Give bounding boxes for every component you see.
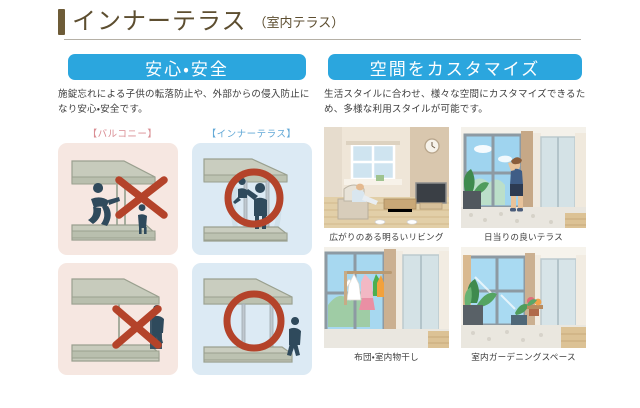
sunny-terrace-illustration-icon: [461, 127, 586, 228]
photo-living-room: [324, 127, 449, 228]
customize-band-label: 空間をカスタマイズ: [370, 55, 541, 80]
illustration-balcony-fall-risk: [58, 143, 178, 255]
safety-section: 安心・安全 施錠忘れによる子供の転落防止や、外部からの侵入防止になり安心・安全で…: [58, 54, 316, 375]
safety-band: 安心・安全: [68, 54, 306, 80]
safety-band-label: 安心・安全: [145, 55, 229, 80]
balcony-intruder-diagram-icon: [58, 263, 178, 375]
inner-terrace-safe-diagram-icon: [192, 143, 312, 255]
photo-indoor-laundry: [324, 247, 449, 348]
illustration-balcony-intruder-risk: [58, 263, 178, 375]
living-room-illustration-icon: [324, 127, 449, 228]
inner-terrace-intruder-blocked-diagram-icon: [192, 263, 312, 375]
page-header: インナーテラス （室内テラス）: [58, 6, 586, 48]
photo-cell-indoor-garden: 室内ガーデニングスペース: [461, 247, 586, 363]
customize-section: 空間をカスタマイズ 生活スタイルに合わせ、様々な空間にカスタマイズできるため、多…: [324, 54, 586, 363]
indoor-garden-illustration-icon: [461, 247, 586, 348]
illustration-inner-terrace-intruder-blocked: [192, 263, 312, 375]
indoor-laundry-illustration-icon: [324, 247, 449, 348]
safety-lead-text: 施錠忘れによる子供の転落防止や、外部からの侵入防止になり安心・安全です。: [58, 88, 316, 117]
illustration-inner-terrace-safe: [192, 143, 312, 255]
caption-sunny-terrace: 日当りの良いテラス: [461, 231, 586, 243]
title-divider: [64, 39, 581, 40]
compare-label-balcony: 【バルコニー】: [58, 126, 187, 140]
balcony-fall-diagram-icon: [58, 143, 178, 255]
page-title: インナーテラス （室内テラス）: [58, 6, 586, 38]
title-accent-bar: [58, 9, 65, 35]
customize-lead-text: 生活スタイルに合わせ、様々な空間にカスタマイズできるため、多様な利用スタイルが可…: [324, 88, 586, 117]
compare-label-row: 【バルコニー】 【インナーテラス】: [58, 126, 316, 140]
photo-indoor-garden: [461, 247, 586, 348]
infographic-page: インナーテラス （室内テラス） 安心・安全 施錠忘れによる子供の転落防止や、外部…: [0, 0, 640, 408]
photo-cell-indoor-laundry: 布団・室内物干し: [324, 247, 449, 363]
photo-cell-living-room: 広がりのある明るいリビング: [324, 127, 449, 243]
photo-sunny-terrace: [461, 127, 586, 228]
illustration-grid: [58, 143, 316, 375]
caption-indoor-laundry: 布団・室内物干し: [324, 351, 449, 363]
caption-living-room: 広がりのある明るいリビング: [324, 231, 449, 243]
title-sub-text: （室内テラス）: [254, 12, 345, 33]
photo-cell-sunny-terrace: 日当りの良いテラス: [461, 127, 586, 243]
caption-indoor-garden: 室内ガーデニングスペース: [461, 351, 586, 363]
customize-band: 空間をカスタマイズ: [328, 54, 582, 80]
title-main-text: インナーテラス: [72, 10, 247, 34]
photo-grid: 広がりのある明るいリビング: [324, 127, 586, 363]
compare-label-inner-terrace: 【インナーテラス】: [187, 126, 316, 140]
